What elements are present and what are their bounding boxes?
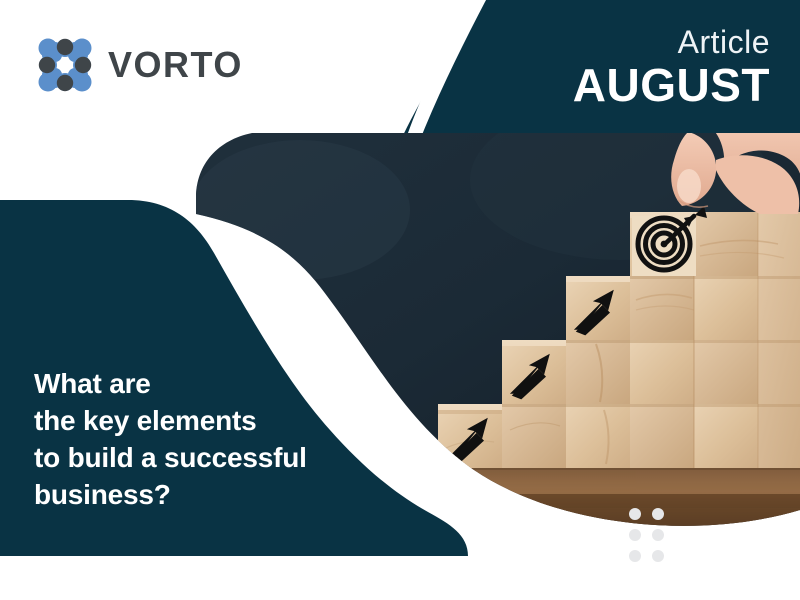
decor-dot	[629, 550, 641, 562]
decor-dot	[652, 529, 664, 541]
vorto-dot-cluster-icon	[36, 36, 94, 94]
dot-grid-decoration	[629, 508, 664, 562]
headline-line-1: What are	[34, 366, 354, 403]
decor-dot	[629, 529, 641, 541]
dateline-kicker: Article	[573, 26, 770, 60]
article-banner: VORTO Article AUGUST What are the key el…	[0, 0, 800, 600]
decor-dot	[652, 508, 664, 520]
headline-line-2: the key elements	[34, 403, 354, 440]
dateline-month: AUGUST	[573, 62, 770, 108]
brand-logo[interactable]: VORTO	[36, 36, 243, 94]
headline-line-3: to build a successful	[34, 440, 354, 477]
decor-dot	[629, 508, 641, 520]
headline-line-4: business?	[34, 477, 354, 514]
page-title: What are the key elements to build a suc…	[34, 366, 354, 514]
decor-dot	[652, 550, 664, 562]
dateline: Article AUGUST	[573, 26, 770, 108]
brand-wordmark: VORTO	[108, 47, 243, 83]
